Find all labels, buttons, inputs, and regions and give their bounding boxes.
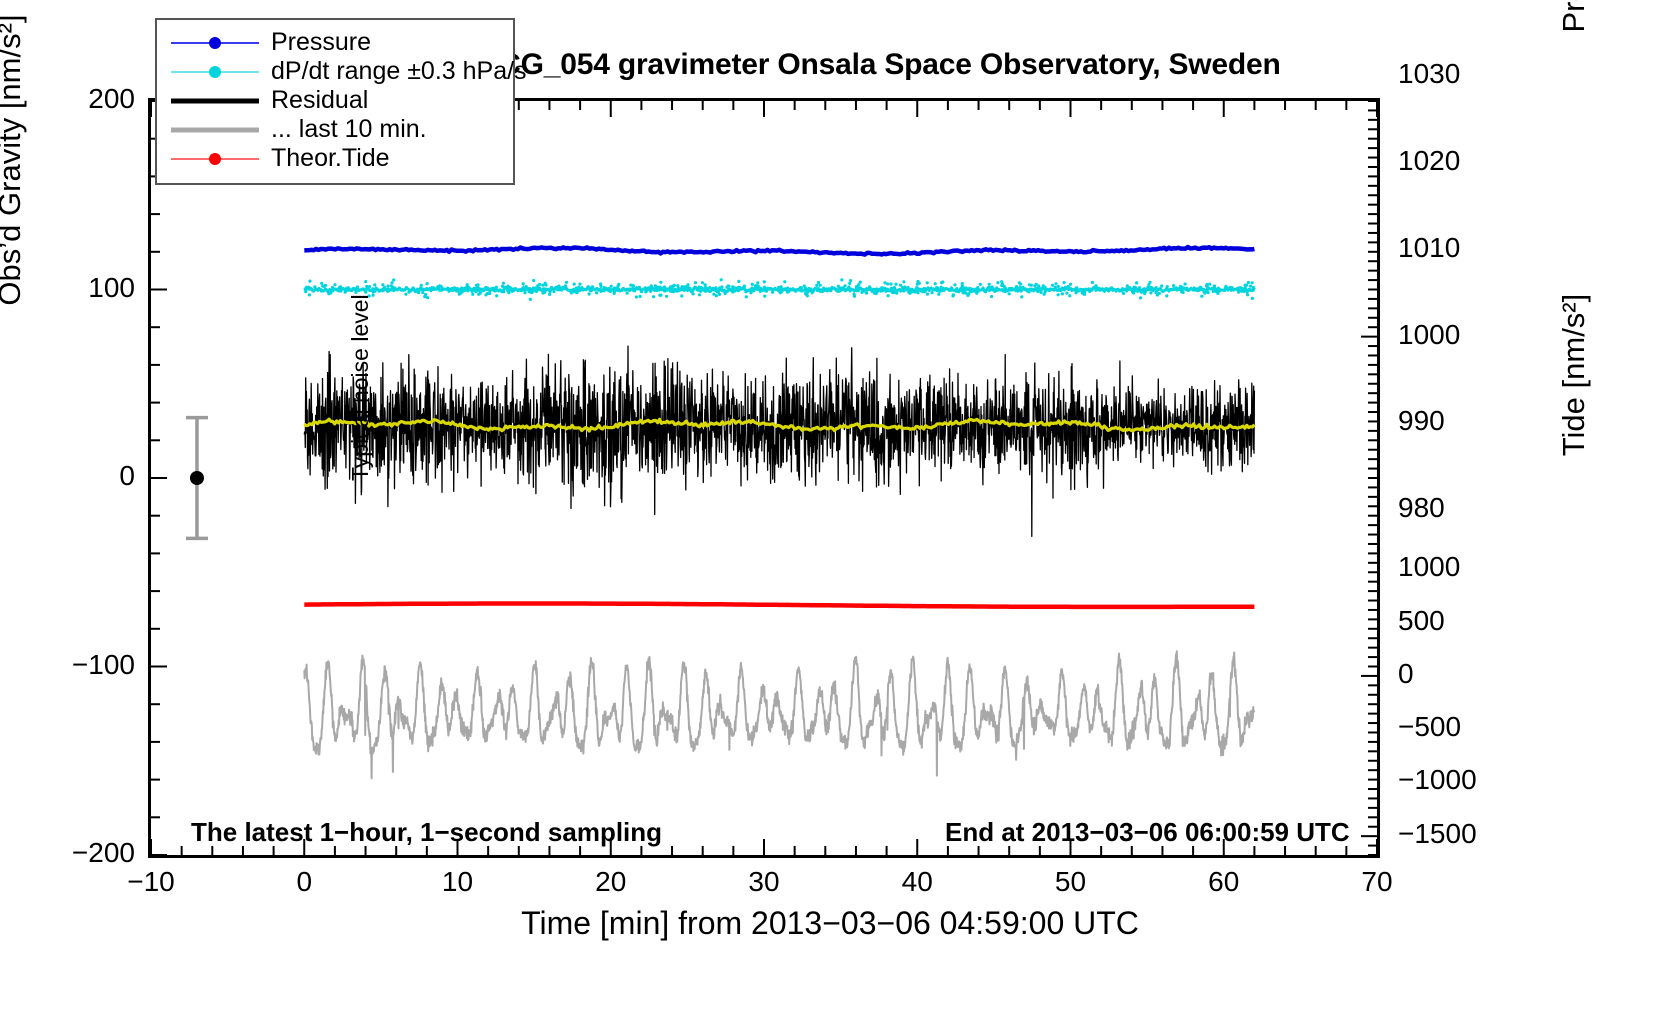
legend-swatch-pressure [167,33,263,53]
legend-item-last10[interactable]: ... last 10 min. [167,115,503,144]
x-tick-4: 30 [704,866,824,898]
y-tick-tide-2: −500 [1398,711,1528,743]
legend-swatch-last10 [167,120,263,140]
legend[interactable]: Pressure dP/dt range ±0.3 hPa/s Residual… [155,18,515,185]
end-time-note: End at 2013−03−06 06:00:59 UTC [945,817,1350,848]
y-axis-label-left: Obs’d Gravity [nm/s²] [0,0,28,470]
legend-item-theortide[interactable]: Theor.Tide [167,144,503,173]
x-axis-label: Time [min] from 2013−03−06 04:59:00 UTC [0,905,1660,942]
legend-label-theortide: Theor.Tide [263,144,390,173]
y-tick-tide-3: 0 [1398,658,1528,690]
legend-swatch-residual [167,91,263,111]
x-tick-8: 70 [1317,866,1437,898]
y-tick-pressure-5: 1030 [1398,58,1528,90]
y-tick-tide-0: −1500 [1398,818,1528,850]
legend-item-pressure[interactable]: Pressure [167,28,503,57]
y-tick-pressure-1: 990 [1398,405,1528,437]
legend-label-dpdt: dP/dt range ±0.3 hPa/s [263,57,527,86]
x-tick-1: 0 [244,866,364,898]
x-tick-5: 40 [857,866,977,898]
y-axis-label-pressure: Pressure [hPa] [1556,0,1592,95]
legend-label-pressure: Pressure [263,28,371,57]
typical-noise-errorbar [151,101,1377,855]
y-tick-pressure-4: 1020 [1398,145,1528,177]
y-tick-left-0: −200 [25,837,135,869]
legend-swatch-dpdt [167,62,263,82]
chart-canvas: SCG_054 gravimeter Onsala Space Observat… [0,0,1660,1020]
x-tick-0: −10 [91,866,211,898]
y-tick-pressure-0: 980 [1398,492,1528,524]
legend-swatch-theortide [167,149,263,169]
legend-label-residual: Residual [263,86,368,115]
noise-level-label: Typical noise level [347,294,374,481]
y-tick-tide-1: −1000 [1398,764,1528,796]
y-tick-tide-5: 1000 [1398,551,1528,583]
legend-label-last10: ... last 10 min. [263,115,427,144]
y-tick-left-1: −100 [25,649,135,681]
chart-title: SCG_054 gravimeter Onsala Space Observat… [380,48,1380,82]
legend-item-residual[interactable]: Residual [167,86,503,115]
y-tick-pressure-2: 1000 [1398,319,1528,351]
y-tick-left-4: 200 [25,83,135,115]
x-tick-7: 60 [1164,866,1284,898]
x-tick-6: 50 [1011,866,1131,898]
sampling-note: The latest 1−hour, 1−second sampling [191,817,662,848]
y-tick-left-3: 100 [25,272,135,304]
y-tick-tide-4: 500 [1398,605,1528,637]
y-axis-label-tide: Tide [nm/s²] [1556,220,1592,530]
y-tick-pressure-3: 1010 [1398,232,1528,264]
y-tick-left-2: 0 [25,460,135,492]
legend-item-dpdt[interactable]: dP/dt range ±0.3 hPa/s [167,57,503,86]
x-tick-3: 20 [551,866,671,898]
x-tick-2: 10 [398,866,518,898]
plot-area: Typical noise level The latest 1−hour, 1… [148,98,1380,858]
